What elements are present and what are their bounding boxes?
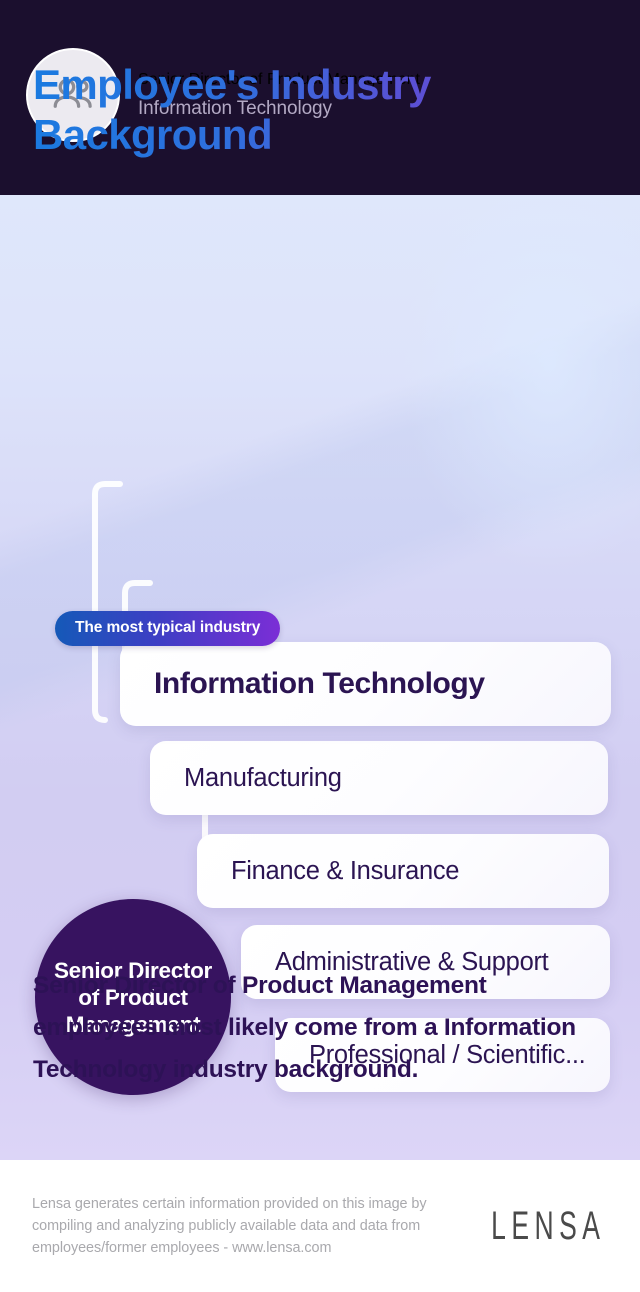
page-title: Employee's Industry Background: [33, 60, 553, 159]
most-typical-badge: The most typical industry: [55, 611, 280, 646]
infographic-page: Senior Director of Product Management In…: [0, 0, 640, 1292]
footer: Lensa generates certain information prov…: [0, 1160, 640, 1292]
industry-diagram: The most typical industry Information Te…: [0, 195, 640, 955]
summary-text: Senior Director of Product Management em…: [33, 965, 578, 1091]
industry-card-label: Finance & Insurance: [231, 857, 459, 886]
lensa-logo: LENSA: [491, 1203, 608, 1249]
industry-card-information-technology[interactable]: Information Technology: [120, 642, 611, 726]
industry-card-label: Manufacturing: [184, 764, 342, 793]
industry-card-finance-insurance[interactable]: Finance & Insurance: [197, 834, 609, 908]
industry-card-label: Information Technology: [154, 667, 485, 701]
footer-disclaimer: Lensa generates certain information prov…: [32, 1193, 458, 1260]
industry-card-manufacturing[interactable]: Manufacturing: [150, 741, 608, 815]
